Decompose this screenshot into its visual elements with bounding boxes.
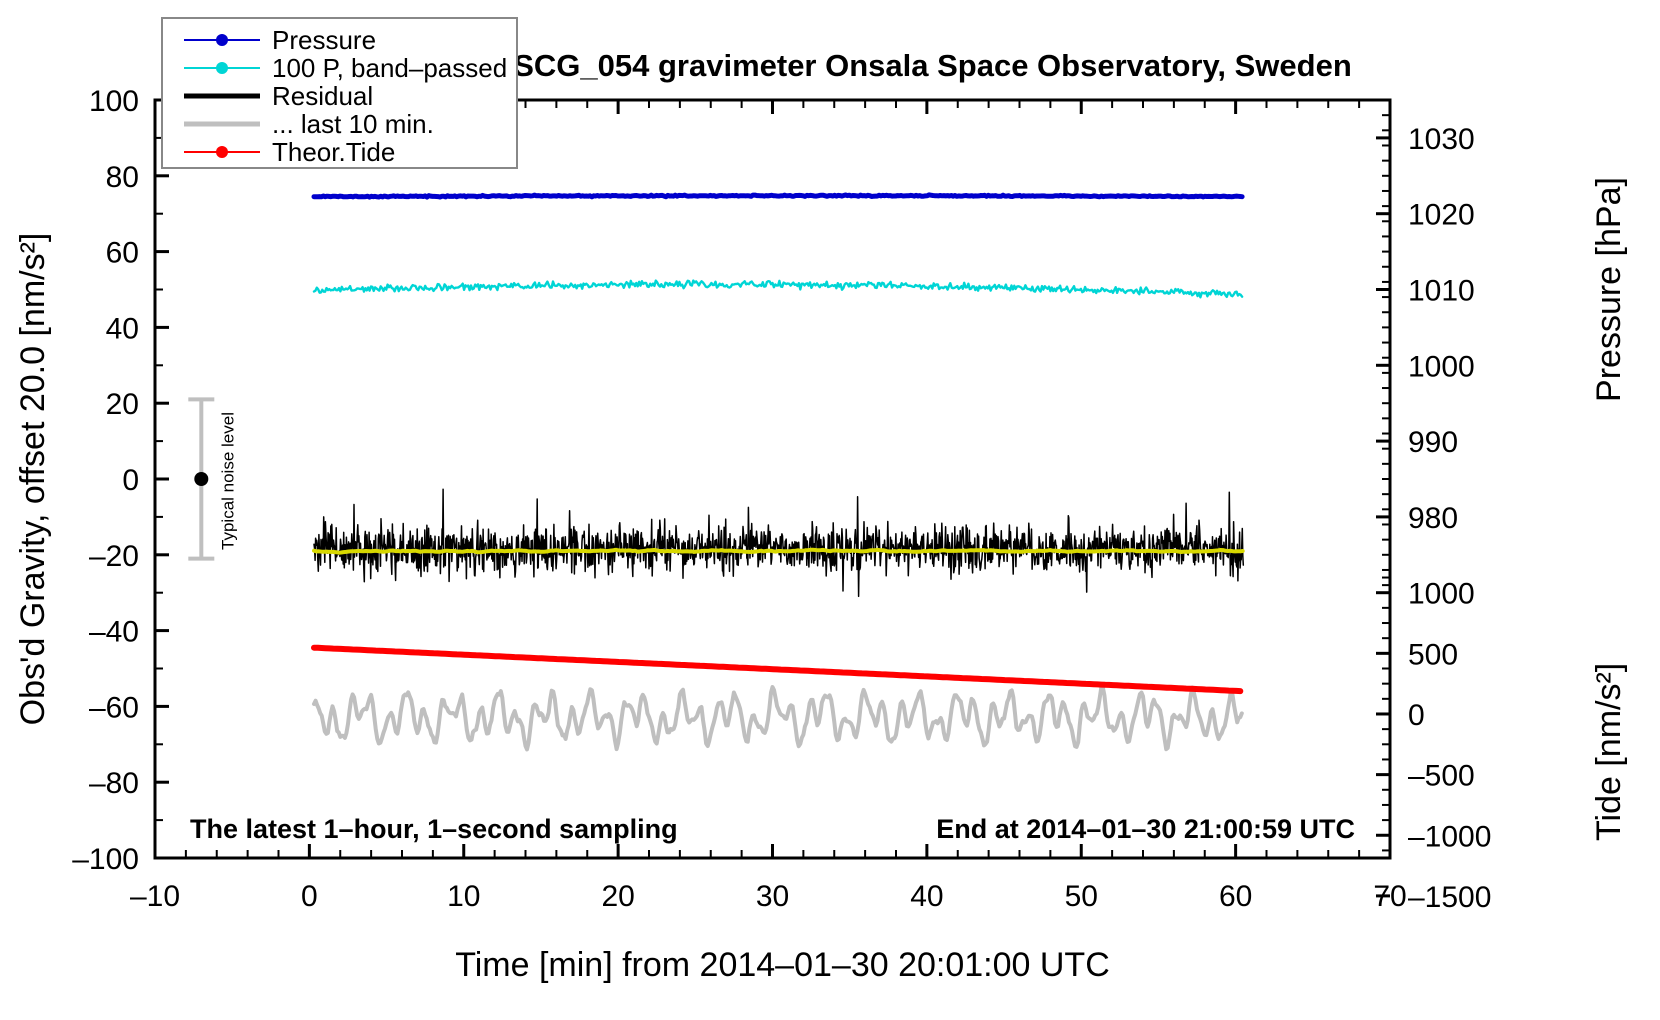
y-tick-label: 60 bbox=[106, 237, 139, 270]
y-tick-label: –100 bbox=[72, 843, 139, 876]
pressure-tick-label: 980 bbox=[1408, 502, 1458, 535]
x-tick-label: 60 bbox=[1219, 880, 1252, 913]
legend-label-2: Residual bbox=[272, 81, 373, 111]
tide-tick-label: 1000 bbox=[1408, 578, 1475, 611]
y-tick-label: 80 bbox=[106, 161, 139, 194]
tide-axis-title: Tide [nm/s²] bbox=[1590, 663, 1628, 841]
x-tick-label: 20 bbox=[601, 880, 634, 913]
tide-tick-label: 0 bbox=[1408, 699, 1425, 732]
y-tick-label: –80 bbox=[89, 767, 139, 800]
x-tick-label: 0 bbox=[301, 880, 318, 913]
pressure-tick-label: 1030 bbox=[1408, 123, 1475, 156]
chart-page: –10010203040506070100806040200–20–40–60–… bbox=[0, 0, 1660, 1020]
x-tick-label: 30 bbox=[756, 880, 789, 913]
legend-label-3: ... last 10 min. bbox=[272, 109, 434, 139]
y-tick-label: 100 bbox=[89, 85, 139, 118]
x-tick-label: 50 bbox=[1065, 880, 1098, 913]
chart-title: SCG_054 gravimeter Onsala Space Observat… bbox=[513, 48, 1352, 83]
legend-marker-1 bbox=[216, 62, 228, 74]
x-tick-label: –10 bbox=[130, 880, 180, 913]
legend-marker-4 bbox=[216, 146, 228, 158]
pressure-tick-label: 1020 bbox=[1408, 199, 1475, 232]
series-residual-smoothed bbox=[314, 550, 1243, 553]
series-pressure bbox=[314, 195, 1242, 197]
y-tick-label: 0 bbox=[122, 464, 139, 497]
end-time-note: End at 2014–01–30 21:00:59 UTC bbox=[936, 814, 1355, 844]
x-tick-label: 10 bbox=[447, 880, 480, 913]
x-tick-label: 40 bbox=[910, 880, 943, 913]
y-tick-label: 40 bbox=[106, 312, 139, 345]
plot-frame bbox=[155, 100, 1390, 858]
noise-level-label: Typical noise level bbox=[218, 412, 237, 550]
pressure-tick-label: 990 bbox=[1408, 426, 1458, 459]
tide-tick-label: 500 bbox=[1408, 638, 1458, 671]
gravimeter-chart: –10010203040506070100806040200–20–40–60–… bbox=[0, 0, 1660, 1020]
x-axis-title: Time [min] from 2014–01–30 20:01:00 UTC bbox=[455, 946, 1110, 984]
tide-tick-label: –500 bbox=[1408, 760, 1475, 793]
tide-tick-label: –1500 bbox=[1408, 881, 1491, 914]
legend-label-0: Pressure bbox=[272, 25, 376, 55]
y-tick-label: –60 bbox=[89, 691, 139, 724]
y-axis-title: Obs'd Gravity, offset 20.0 [nm/s²] bbox=[14, 233, 52, 726]
y-tick-label: –40 bbox=[89, 616, 139, 649]
pressure-axis-title: Pressure [hPa] bbox=[1590, 177, 1628, 402]
legend-label-4: Theor.Tide bbox=[272, 137, 395, 167]
y-tick-label: 20 bbox=[106, 388, 139, 421]
legend-marker-0 bbox=[216, 34, 228, 46]
y-tick-label: –20 bbox=[89, 540, 139, 573]
pressure-tick-label: 1010 bbox=[1408, 275, 1475, 308]
tide-tick-label: –1000 bbox=[1408, 820, 1491, 853]
legend-label-1: 100 P, band–passed bbox=[272, 53, 507, 83]
sampling-note: The latest 1–hour, 1–second sampling bbox=[190, 814, 678, 844]
pressure-tick-label: 1000 bbox=[1408, 350, 1475, 383]
noise-level-dot bbox=[194, 472, 208, 486]
